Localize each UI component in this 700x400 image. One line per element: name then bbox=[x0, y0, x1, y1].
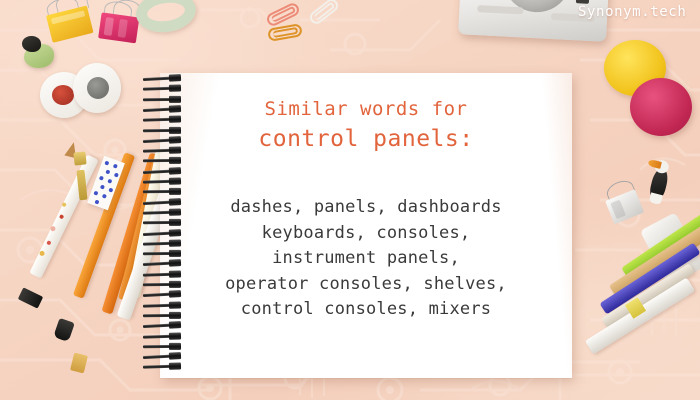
green-bird-figurine bbox=[20, 36, 54, 68]
title-line-1: Similar words for bbox=[160, 97, 572, 122]
synonym-line: instrument panels, bbox=[160, 246, 572, 272]
synonym-list: dashes, panels, dashboardskeyboards, con… bbox=[160, 195, 572, 323]
notebook-content: Similar words for control panels: dashes… bbox=[160, 73, 572, 378]
synonym-line: keyboards, consoles, bbox=[160, 221, 572, 247]
cream-pen-gold-band bbox=[73, 151, 86, 165]
title-block: Similar words for control panels: bbox=[160, 97, 572, 155]
white-stone-gray-center bbox=[73, 63, 121, 113]
title-line-2: control panels: bbox=[160, 124, 572, 155]
crimson-macaron bbox=[630, 78, 692, 136]
synonym-line: operator consoles, shelves, bbox=[160, 272, 572, 298]
site-watermark: Synonym.tech bbox=[578, 3, 686, 21]
synonym-line: dashes, panels, dashboards bbox=[160, 195, 572, 221]
screenshot-canvas: Similar words for control panels: dashes… bbox=[0, 0, 700, 400]
synonym-line: control consoles, mixers bbox=[160, 297, 572, 323]
